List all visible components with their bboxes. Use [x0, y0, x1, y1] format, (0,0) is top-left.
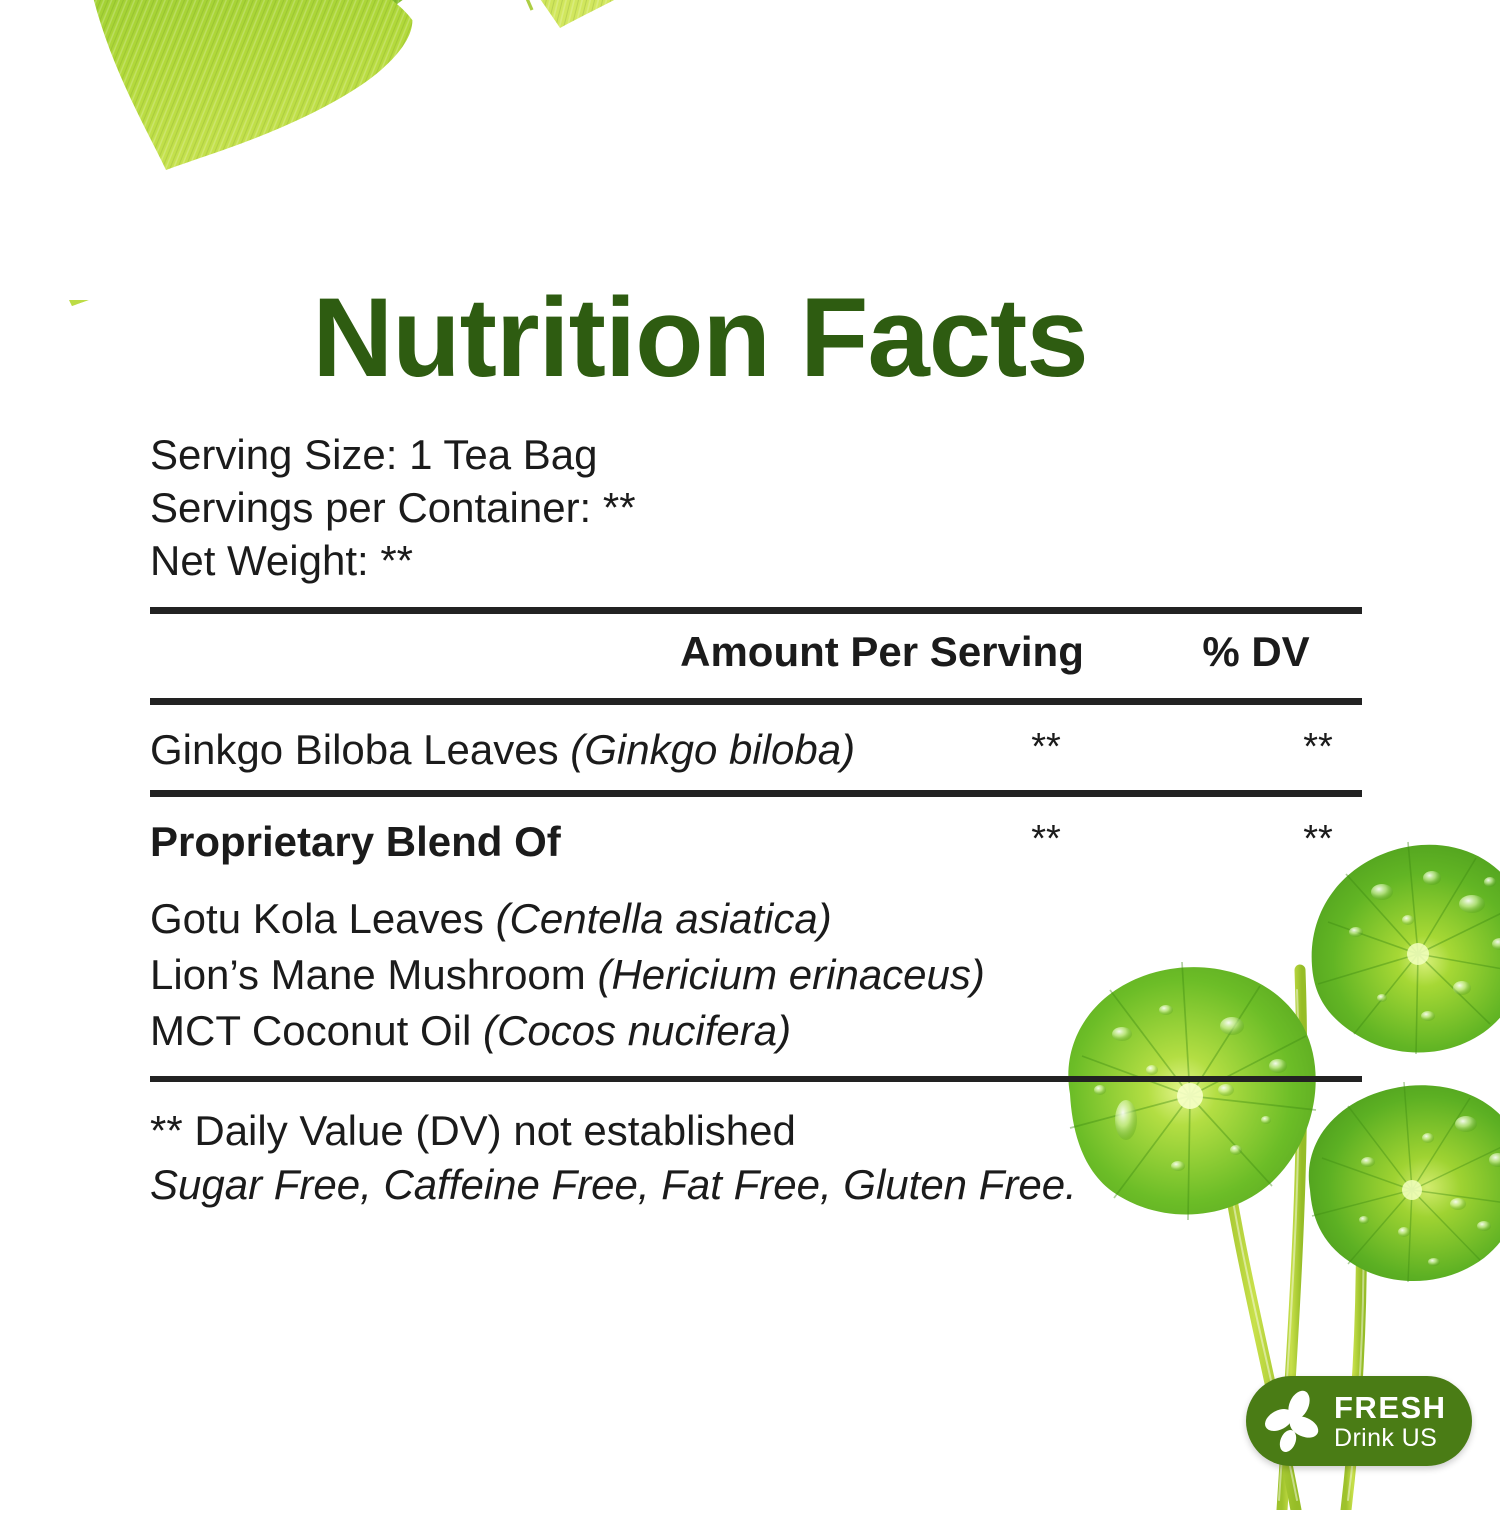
- blend-dv: **: [1212, 818, 1424, 861]
- table-header: Amount Per Serving % DV: [150, 628, 1362, 688]
- nutrition-facts-label: Nutrition Facts Serving Size: 1 Tea Bag …: [0, 0, 1500, 1500]
- blend-amount: **: [940, 818, 1152, 861]
- table-row-rule: [150, 790, 1362, 797]
- ingredient-name: Ginkgo Biloba Leaves (Ginkgo biloba): [150, 726, 855, 774]
- list-item: MCT Coconut Oil (Cocos nucifera): [150, 1003, 1210, 1059]
- column-header-amount-per-serving: Amount Per Serving: [662, 628, 1102, 676]
- footnote-dv-note: ** Daily Value (DV) not established: [150, 1104, 1210, 1158]
- brand-name: FRESH: [1334, 1391, 1447, 1424]
- ginkgo-leaf-icon: [0, 300, 160, 480]
- column-header-percent-dv: % DV: [1150, 628, 1362, 676]
- table-top-rule: [150, 607, 1362, 614]
- table-footnote-rule: [150, 1076, 1362, 1082]
- brand-text: FRESH Drink US: [1334, 1391, 1447, 1452]
- ingredient-latin-name: (Cocos nucifera): [483, 1007, 791, 1054]
- brand-tagline: Drink US: [1334, 1424, 1447, 1452]
- list-item: Lion’s Mane Mushroom (Hericium erinaceus…: [150, 947, 1210, 1003]
- ingredient-latin-name: (Hericium erinaceus): [597, 951, 984, 998]
- net-weight-line: Net Weight: **: [150, 534, 1050, 587]
- table-header-rule: [150, 698, 1362, 705]
- servings-per-container-line: Servings per Container: **: [150, 481, 1050, 534]
- footnote: ** Daily Value (DV) not established Suga…: [150, 1104, 1210, 1212]
- serving-size-line: Serving Size: 1 Tea Bag: [150, 428, 1050, 481]
- list-item: Gotu Kola Leaves (Centella asiatica): [150, 891, 1210, 947]
- ingredient-latin-name: (Centella asiatica): [496, 895, 832, 942]
- ginkgo-leaf-cluster-icon: [0, 0, 810, 490]
- ingredient-common-name: Lion’s Mane Mushroom: [150, 951, 597, 998]
- ingredient-latin-name: (Ginkgo biloba): [570, 726, 855, 773]
- ingredient-common-name: Ginkgo Biloba Leaves: [150, 726, 570, 773]
- leaf-cluster-icon: [1258, 1384, 1332, 1458]
- footnote-claims: Sugar Free, Caffeine Free, Fat Free, Glu…: [150, 1158, 1210, 1212]
- serving-info: Serving Size: 1 Tea Bag Servings per Con…: [150, 428, 1050, 587]
- ingredient-common-name: MCT Coconut Oil: [150, 1007, 483, 1054]
- blend-heading: Proprietary Blend Of: [150, 818, 561, 866]
- ingredient-common-name: Gotu Kola Leaves: [150, 895, 496, 942]
- page-title: Nutrition Facts: [150, 282, 1250, 394]
- ingredient-amount: **: [940, 726, 1152, 769]
- brand-badge: FRESH Drink US: [1246, 1376, 1472, 1466]
- ingredient-dv: **: [1212, 726, 1424, 769]
- blend-ingredient-list: Gotu Kola Leaves (Centella asiatica) Lio…: [150, 891, 1210, 1059]
